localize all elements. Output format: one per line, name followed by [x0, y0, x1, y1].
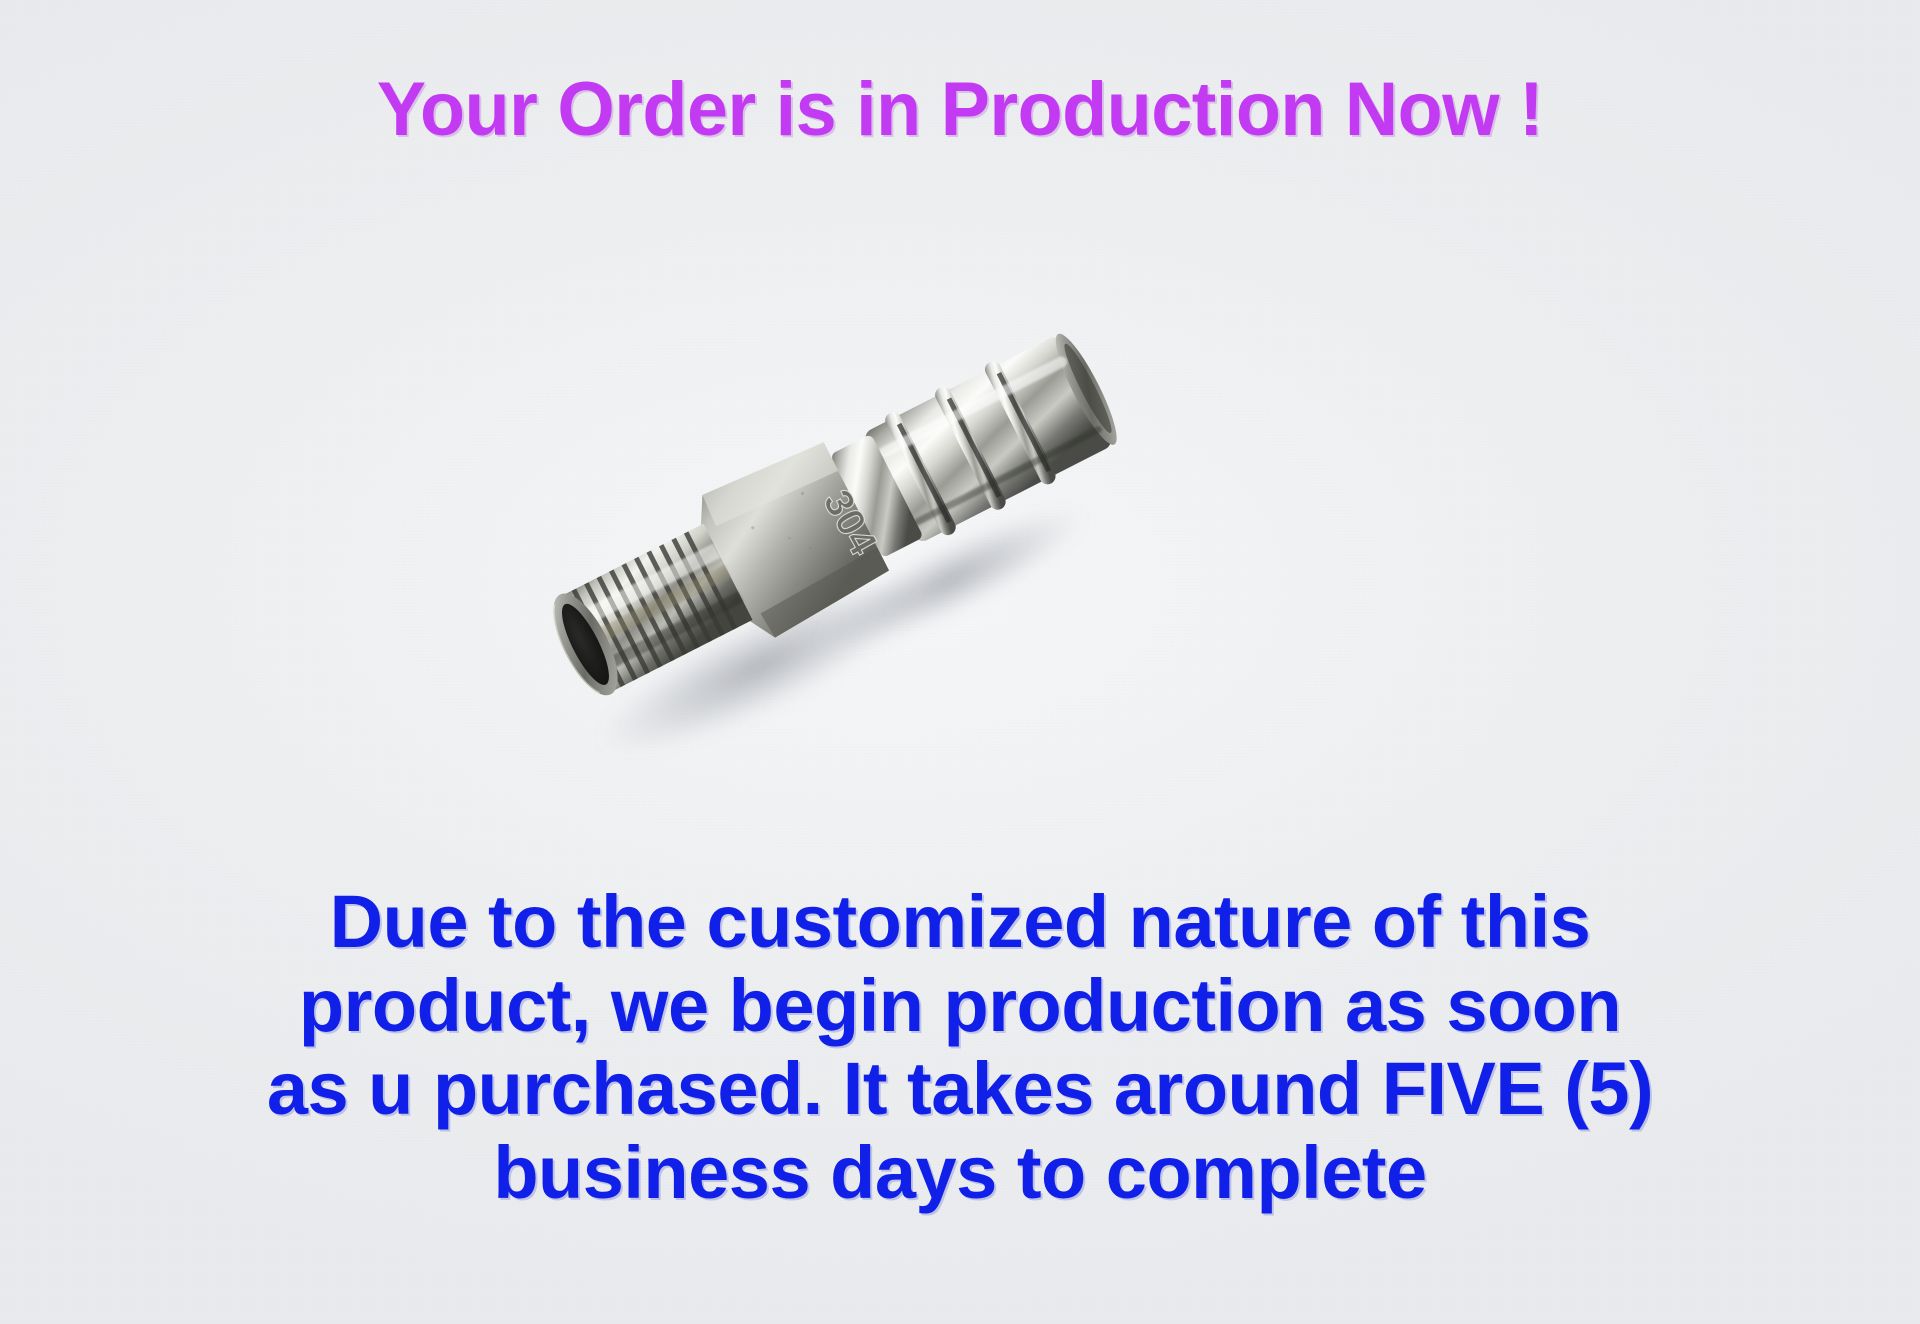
notice-canvas: Your Order is in Production Now !	[0, 0, 1920, 1324]
production-notice-text: Due to the customized nature of this pro…	[0, 880, 1920, 1214]
notice-line-1: Due to the customized nature of this	[0, 880, 1920, 964]
notice-line-3: as u purchased. It takes around FIVE (5)	[0, 1047, 1920, 1131]
notice-line-2: product, we begin production as soon	[0, 964, 1920, 1048]
hose-barb-fitting-illustration: 304	[430, 280, 1190, 760]
page-title: Your Order is in Production Now !	[29, 66, 1891, 153]
notice-line-4: business days to complete	[0, 1131, 1920, 1215]
product-photo: 304	[430, 280, 1190, 760]
